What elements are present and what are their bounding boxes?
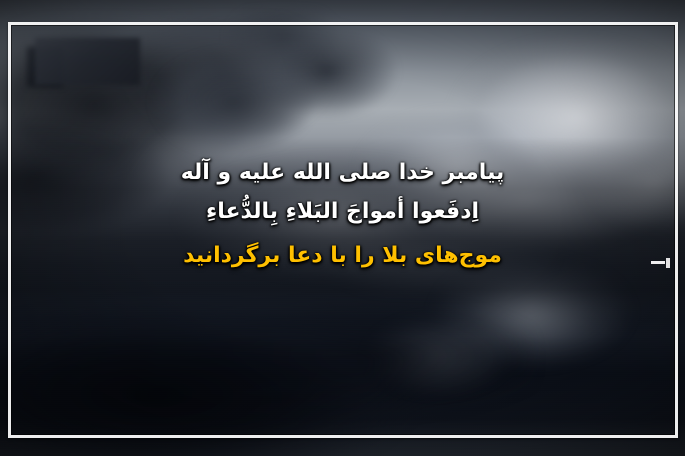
blurred-watermark [35, 38, 140, 85]
dark-cloud-bottom [0, 274, 534, 456]
artifact-bar [651, 261, 665, 264]
artifact-tick [666, 258, 670, 268]
video-frame-container: پیامبر خدا صلی الله علیه و آله اِدفَعوا … [0, 0, 685, 456]
white-edge-artifact [651, 258, 671, 269]
